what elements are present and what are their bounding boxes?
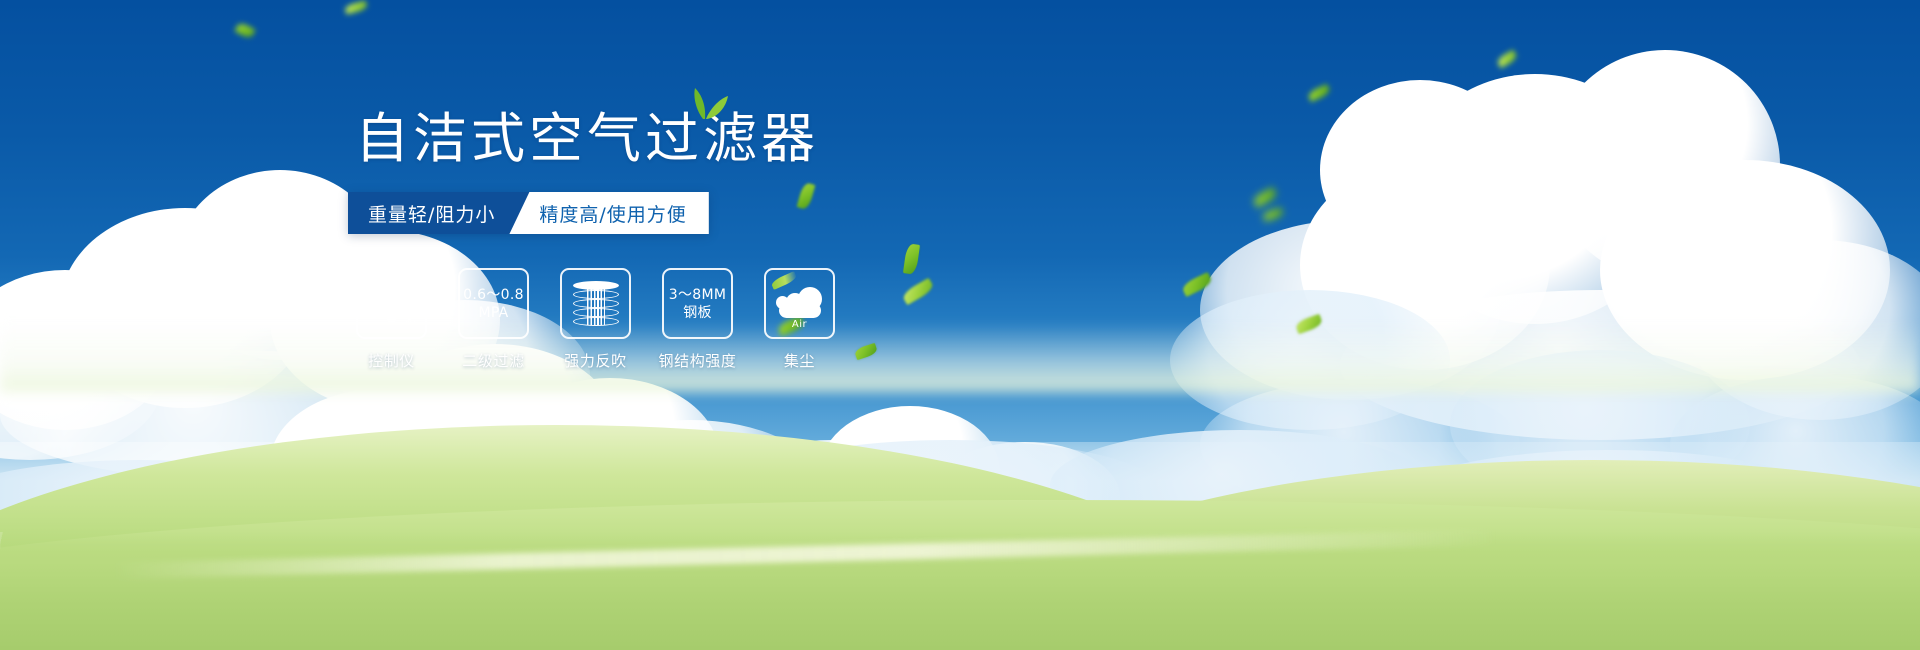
air-label: Air <box>774 319 826 330</box>
headline-leaf-icon <box>683 88 729 120</box>
dial-max-label: OFF <box>405 320 418 327</box>
tag-bar: 重量轻/阻力小 精度高/使用方便 <box>348 192 709 234</box>
tag-precision-convenience[interactable]: 精度高/使用方便 <box>509 192 708 234</box>
steel-value-line2: 钢板 <box>683 304 712 322</box>
leaf-streak-icon <box>770 271 797 290</box>
feature-label: 二级过滤 <box>462 350 524 371</box>
page-title: 自洁式空气过滤器 <box>355 112 819 166</box>
air-cloud-icon: Air <box>764 268 835 339</box>
feature-item-backblow[interactable]: 强力反吹 <box>560 268 631 371</box>
feature-item-steel[interactable]: 3～8MM 钢板 钢结构强度 <box>662 268 733 371</box>
tag-weight-resistance[interactable]: 重量轻/阻力小 <box>348 192 529 234</box>
feature-item-control[interactable]: NO OFF 控制仪 <box>356 268 427 371</box>
pressure-value-line1: 0.6～0.8 <box>463 286 524 304</box>
feature-label: 集尘 <box>784 350 815 371</box>
feature-list: NO OFF 控制仪 0.6～0.8 MPA 二级过滤 <box>356 268 835 371</box>
dial-min-label: NO <box>365 305 375 312</box>
pressure-value-line2: MPA <box>478 304 508 322</box>
hero-banner: 自洁式空气过滤器 重量轻/阻力小 精度高/使用方便 <box>0 0 1920 650</box>
pressure-text-icon: 0.6～0.8 MPA <box>458 268 529 339</box>
banner-content: 自洁式空气过滤器 重量轻/阻力小 精度高/使用方便 <box>0 0 1920 650</box>
steel-plate-text-icon: 3～8MM 钢板 <box>662 268 733 339</box>
feature-label: 强力反吹 <box>564 350 626 371</box>
steel-value-line1: 3～8MM <box>669 286 726 304</box>
control-dial-icon: NO OFF <box>356 268 427 339</box>
cartridge-graphic <box>573 280 619 328</box>
dial-graphic: NO OFF <box>365 279 419 329</box>
filter-cartridge-icon <box>560 268 631 339</box>
cloud-graphic: Air <box>774 281 826 327</box>
feature-item-dust[interactable]: Air 集尘 <box>764 268 835 371</box>
feature-label: 控制仪 <box>368 350 415 371</box>
feature-item-pressure[interactable]: 0.6～0.8 MPA 二级过滤 <box>458 268 529 371</box>
feature-label: 钢结构强度 <box>659 350 737 371</box>
